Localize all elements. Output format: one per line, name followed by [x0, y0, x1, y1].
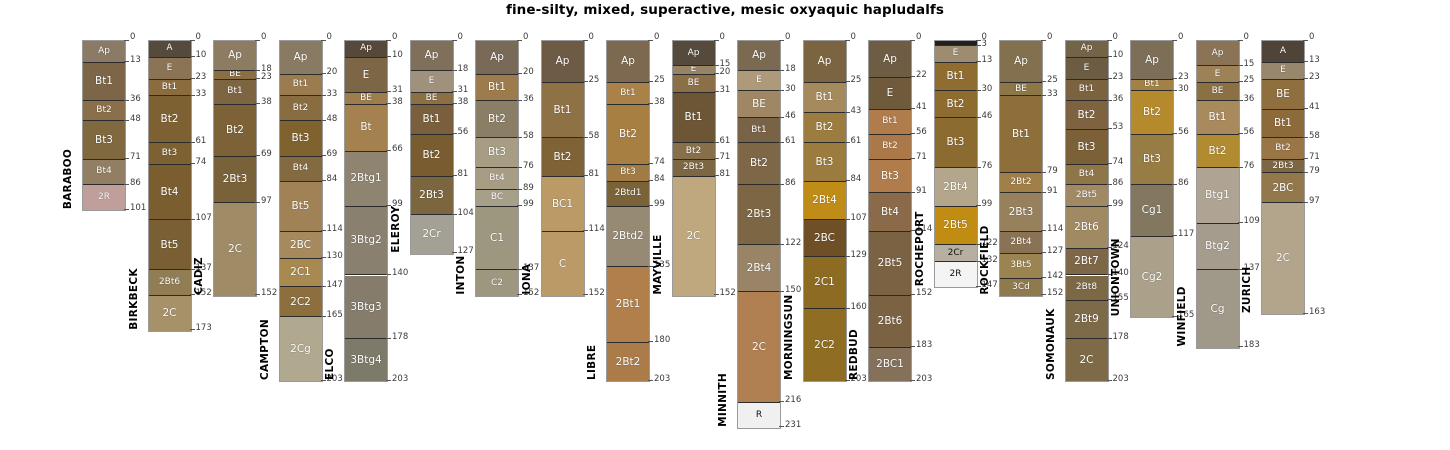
soil-horizon: Bt2 — [280, 96, 322, 121]
tick-mark — [1107, 338, 1112, 339]
soil-horizon: 2C — [1262, 203, 1304, 314]
depth-value: 152 — [916, 289, 932, 298]
depth-value: 13 — [1309, 56, 1320, 65]
soil-horizon: Bt3 — [1066, 130, 1108, 165]
soil-horizon: 2BC — [804, 220, 846, 257]
horizon-label: 2Bt4 — [747, 263, 772, 274]
horizon-label: 2BC1 — [876, 359, 904, 370]
soil-horizon: Bt2 — [804, 113, 846, 143]
soil-horizon: Bt3 — [83, 121, 125, 160]
horizon-label: Bt2 — [619, 129, 637, 140]
depth-value: 203 — [916, 375, 932, 384]
pedon-name-label: BIRKBECK — [128, 40, 140, 330]
pedon-name-label: ELCO — [324, 40, 336, 380]
tick-mark — [1303, 78, 1308, 79]
soil-horizon: Bt3 — [1131, 135, 1173, 185]
soil-horizon: Bt5 — [149, 220, 191, 270]
soil-horizon: Cg — [1197, 270, 1239, 347]
soil-horizon: Bt1 — [1066, 80, 1108, 102]
soil-horizon: 2Bt3 — [1262, 160, 1304, 173]
profile-column: ApEBt1Bt2Bt3Bt42Bt52Bt62BC1 — [868, 40, 912, 382]
tick-mark — [1303, 202, 1308, 203]
soil-horizon: Bt5 — [280, 182, 322, 232]
soil-horizon: E — [1197, 66, 1239, 83]
horizon-label: Bt1 — [1144, 80, 1159, 89]
soil-horizon: BE — [214, 71, 256, 79]
pedon-name-label: INTON — [455, 40, 467, 295]
soil-horizon: C1 — [476, 207, 518, 271]
tick-mark — [1238, 346, 1243, 347]
tick-mark — [779, 426, 784, 427]
soil-horizon: A — [1262, 41, 1304, 63]
horizon-label: Bt1 — [227, 87, 242, 96]
horizon-label: 2C — [1276, 253, 1290, 264]
soil-horizon: 3Bt5 — [1000, 254, 1042, 279]
horizon-label: 2Bt3 — [223, 174, 248, 185]
soil-horizon: 2C — [673, 177, 715, 296]
soil-horizon: Bt1 — [738, 118, 780, 143]
soil-horizon: Ap — [1131, 41, 1173, 80]
pedon-name-label: ROCKFIELD — [979, 40, 991, 295]
soil-horizon: 2R — [83, 185, 125, 210]
horizon-label: 2Bt5 — [878, 258, 903, 269]
horizon-label: E — [887, 88, 894, 99]
horizon-label: Bt2 — [553, 152, 571, 163]
horizon-label: Bt1 — [162, 83, 177, 92]
profile-column: EBt1Bt2Bt32Bt42Bt52Cr2R — [934, 40, 978, 288]
depth-value: 41 — [1309, 103, 1320, 112]
soil-horizon: Ap — [214, 41, 256, 71]
horizon-label: 2Cr — [948, 249, 964, 258]
page-title: fine-silty, mixed, superactive, mesic ox… — [0, 2, 1450, 18]
horizon-label: 2C2 — [290, 297, 311, 308]
pedon-name-label: WINFIELD — [1176, 40, 1188, 347]
soil-profile-plot: BARABOOApBt1Bt2Bt3Bt42R01336487186101BIR… — [0, 28, 1450, 448]
horizon-label: Bt2 — [96, 106, 111, 115]
pedon-name-label: IONA — [521, 40, 533, 295]
profile-column: ApBt1Bt2Bt3Bt4BCC1C2 — [475, 40, 519, 297]
pedon-name-label: MAYVILLE — [652, 40, 664, 295]
soil-horizon: Bt1 — [1131, 80, 1173, 92]
horizon-label: 2Bt9 — [1074, 314, 1099, 325]
horizon-label: E — [167, 64, 173, 73]
soil-horizon: Bt2 — [607, 105, 649, 165]
horizon-label: 3Btg2 — [350, 235, 381, 246]
tick-mark — [910, 380, 915, 381]
soil-horizon: 3Btg4 — [345, 339, 387, 381]
soil-horizon: 2Bt5 — [935, 207, 977, 246]
soil-horizon: E — [1066, 58, 1108, 80]
horizon-label: Ap — [294, 52, 308, 63]
horizon-label: 2C1 — [290, 267, 311, 278]
horizon-label: BC1 — [552, 199, 573, 210]
depth-value: 0 — [1309, 33, 1314, 42]
horizon-label: Ap — [818, 56, 832, 67]
tick-mark — [1303, 108, 1308, 109]
horizon-label: E — [1084, 64, 1090, 73]
horizon-label: Bt3 — [620, 168, 635, 177]
soil-horizon: Bt3 — [476, 138, 518, 168]
tick-mark — [386, 380, 391, 381]
horizon-label: Bt1 — [422, 114, 440, 125]
pedon-name-label: MORNINGSUN — [783, 40, 795, 380]
depth-value: 79 — [1309, 167, 1320, 176]
horizon-label: Bt3 — [815, 157, 833, 168]
horizon-label: C — [559, 259, 566, 270]
soil-horizon: BE — [1197, 83, 1239, 101]
profile-column: ApBt1Bt2Bt32Btd12Btd22Bt12Bt2 — [606, 40, 650, 382]
tick-mark — [1303, 313, 1308, 314]
soil-horizon: 3Cd — [1000, 279, 1042, 296]
soil-horizon: Bt2 — [1066, 101, 1108, 129]
horizon-label: Bt1 — [1079, 85, 1094, 94]
horizon-label: 2BC — [814, 233, 835, 244]
depth-value: 231 — [785, 421, 801, 430]
soil-horizon: 2Bt7 — [1066, 249, 1108, 276]
soil-horizon: 2Bt6 — [869, 296, 911, 348]
profile-column: ApEBEBt1Bt22Bt32C — [672, 40, 716, 297]
soil-horizon: 2Cg — [280, 317, 322, 381]
soil-horizon: Bt3 — [607, 165, 649, 182]
horizon-label: BC — [491, 193, 503, 202]
horizon-label: 2Bt3 — [1272, 162, 1293, 171]
horizon-label: Bt3 — [488, 147, 506, 158]
soil-horizon: Ap — [476, 41, 518, 75]
horizon-label: 2Btg1 — [350, 173, 381, 184]
horizon-label: Bt1 — [684, 112, 702, 123]
soil-horizon: Bt2 — [1262, 138, 1304, 160]
horizon-label: Ap — [228, 50, 242, 61]
depth-value: 203 — [654, 375, 670, 384]
horizon-label: 2C — [1079, 355, 1093, 366]
soil-horizon: 2Cr — [411, 215, 453, 254]
depth-value: 140 — [392, 269, 408, 278]
soil-horizon: Bt2 — [214, 105, 256, 157]
profile-column: ApBt1Bt2Bt32Bt42BC2C12C2 — [803, 40, 847, 382]
horizon-label: 2R — [950, 270, 962, 279]
profile-column: AEBt1Bt2Bt3Bt4Bt52Bt62C — [148, 40, 192, 332]
horizon-label: 2C — [752, 342, 766, 353]
horizon-label: Bt2 — [1275, 144, 1290, 153]
horizon-label: R — [756, 411, 762, 420]
soil-horizon: Bt2 — [83, 101, 125, 121]
soil-horizon: Bt4 — [149, 165, 191, 220]
depth-value: 71 — [1309, 153, 1320, 162]
horizon-label: Bt1 — [751, 126, 766, 135]
soil-horizon: BC — [476, 190, 518, 207]
horizon-label: 2Cr — [422, 229, 440, 240]
soil-horizon: 2Bt3 — [411, 177, 453, 216]
soil-horizon: 2Btd2 — [607, 207, 649, 267]
soil-horizon: 2C — [738, 292, 780, 403]
horizon-label: Bt1 — [95, 76, 113, 87]
pedon-name-label: CADIZ — [193, 40, 205, 295]
horizon-label: Bt5 — [160, 240, 178, 251]
profile-column: ApEBEBt1Bt2Btg1Btg2Cg — [1196, 40, 1240, 349]
soil-horizon: 2C — [1066, 339, 1108, 381]
horizon-label: Bt4 — [96, 167, 111, 176]
soil-horizon: E — [935, 46, 977, 63]
soil-horizon: Bt3 — [804, 143, 846, 182]
soil-horizon: 2Bt3 — [738, 185, 780, 245]
profile-column: ApBt1Bt2Bt3Bt42R — [82, 40, 126, 211]
soil-horizon: Bt4 — [1066, 165, 1108, 185]
horizon-label: Bt2 — [1143, 107, 1161, 118]
horizon-label: E — [691, 66, 697, 74]
soil-horizon: Ap — [738, 41, 780, 71]
soil-horizon: E — [869, 78, 911, 110]
horizon-label: Bt1 — [1274, 118, 1292, 129]
soil-horizon: 2Bt5 — [869, 232, 911, 296]
soil-horizon: Bt1 — [804, 83, 846, 113]
horizon-label: Bt2 — [160, 114, 178, 125]
soil-horizon: Bt4 — [280, 157, 322, 182]
horizon-label: Ap — [688, 49, 700, 58]
horizon-label: Bt2 — [488, 114, 506, 125]
horizon-label: Ap — [490, 52, 504, 63]
depth-value: 178 — [1113, 333, 1129, 342]
pedon-name-label: MINNITH — [717, 40, 729, 427]
horizon-label: A — [1280, 47, 1286, 56]
profile-column: ApEBt1Bt2Bt3Bt42Bt52Bt62Bt72Bt82Bt92C — [1065, 40, 1109, 382]
horizon-label: Bt3 — [1077, 142, 1095, 153]
pedon-name-label: SOMONAUK — [1045, 40, 1057, 380]
soil-horizon: E — [738, 71, 780, 91]
horizon-label: 2Bt3 — [747, 209, 772, 220]
soil-horizon: Bt2 — [149, 96, 191, 143]
horizon-label: Ap — [883, 54, 897, 65]
horizon-label: Btg1 — [1205, 190, 1230, 201]
soil-horizon: R — [738, 403, 780, 428]
tick-mark — [386, 338, 391, 339]
horizon-label: Bt1 — [620, 89, 635, 98]
horizon-label: Ap — [752, 50, 766, 61]
soil-horizon: 2Bt5 — [1066, 185, 1108, 207]
depth-axis: 013234158717997163 — [1303, 28, 1343, 313]
soil-horizon: 2BC — [280, 232, 322, 259]
soil-horizon: 2Bt4 — [935, 168, 977, 207]
horizon-label: E — [363, 70, 370, 81]
tick-mark — [910, 346, 915, 347]
horizon-label: BE — [688, 79, 700, 88]
soil-horizon: Bt2 — [1197, 135, 1239, 169]
depth-value: 183 — [916, 341, 932, 350]
soil-horizon: 2Bt9 — [1066, 301, 1108, 340]
horizon-label: Cg2 — [1142, 272, 1163, 283]
horizon-label: 2Bt4 — [1010, 238, 1031, 247]
horizon-label: Bt4 — [489, 174, 504, 183]
horizon-label: 2C — [162, 308, 176, 319]
soil-horizon: Bt2 — [411, 135, 453, 177]
horizon-label: 2Cg — [290, 344, 311, 355]
soil-horizon: 2Bt3 — [1000, 193, 1042, 232]
horizon-label: Bt1 — [1012, 129, 1030, 140]
pedon-name-label: ZURICH — [1241, 40, 1253, 313]
profile-column: ApBEBt1Bt22Bt32C — [213, 40, 257, 297]
soil-horizon: BE — [345, 93, 387, 105]
profile-column: ApBt1Bt2Bt3Cg1Cg2 — [1130, 40, 1174, 318]
soil-horizon: 2C1 — [280, 259, 322, 287]
soil-horizon: Bt1 — [280, 75, 322, 97]
soil-horizon: 2Bt6 — [1066, 207, 1108, 249]
soil-horizon: E — [411, 71, 453, 93]
tick-mark — [1303, 40, 1308, 41]
horizon-label: BE — [229, 71, 241, 79]
soil-horizon: Bt2 — [673, 143, 715, 160]
soil-horizon: Bt1 — [149, 80, 191, 97]
horizon-label: BE — [1276, 89, 1290, 100]
depth-value: 180 — [654, 336, 670, 345]
horizon-label: Ap — [621, 56, 635, 67]
soil-horizon: 2C2 — [804, 309, 846, 381]
horizon-label: 2Bt4 — [943, 182, 968, 193]
soil-horizon: Bt1 — [935, 63, 977, 91]
horizon-label: Bt3 — [1143, 154, 1161, 165]
horizon-label: 2Bt6 — [159, 278, 180, 287]
soil-horizon: Ap — [1066, 41, 1108, 58]
profile-column: ApBt1Bt2BC1C — [541, 40, 585, 297]
soil-horizon: 2C — [149, 296, 191, 331]
tick-mark — [1107, 380, 1112, 381]
soil-horizon: Ap — [1000, 41, 1042, 83]
soil-horizon: 2C2 — [280, 287, 322, 317]
horizon-label: E — [429, 77, 435, 86]
horizon-label: 2Bt7 — [1074, 256, 1099, 267]
soil-horizon: Ap — [607, 41, 649, 83]
profile-column: ApEBEBt1Bt22Bt32Bt42CR — [737, 40, 781, 429]
horizon-label: Ap — [556, 56, 570, 67]
horizon-label: BE — [752, 99, 766, 110]
soil-horizon: 2Cr — [935, 245, 977, 262]
horizon-label: 2Bt2 — [1010, 178, 1031, 187]
profile-column: ApBt1Bt2Bt3Bt4Bt52BC2C12C22Cg — [279, 40, 323, 382]
horizon-label: BE — [1015, 85, 1027, 94]
horizon-label: 2Bt3 — [1009, 207, 1034, 218]
soil-horizon: Ap — [345, 41, 387, 58]
horizon-label: 2C — [228, 244, 242, 255]
soil-horizon: 2Bt6 — [149, 270, 191, 295]
horizon-label: BE — [360, 94, 372, 103]
horizon-label: Bt2 — [946, 99, 964, 110]
horizon-label: 3Bt5 — [1010, 261, 1031, 270]
soil-horizon: E — [345, 58, 387, 93]
soil-horizon: Btg1 — [1197, 168, 1239, 223]
horizon-label: Bt2 — [1077, 110, 1095, 121]
soil-horizon: Cg1 — [1131, 185, 1173, 237]
horizon-label: Ap — [360, 44, 372, 53]
soil-horizon: Ap — [411, 41, 453, 71]
horizon-label: Bt1 — [946, 71, 964, 82]
soil-horizon: Bt2 — [542, 138, 584, 177]
profile-column: AEBEBt1Bt22Bt32BC2C — [1261, 40, 1305, 315]
soil-horizon: Bt1 — [869, 110, 911, 135]
horizon-label: Ap — [98, 47, 110, 56]
pedon-name-label: CAMPTON — [259, 40, 271, 380]
horizon-label: Bt2 — [815, 122, 833, 133]
soil-horizon: 2Bt2 — [607, 343, 649, 382]
horizon-label: Bt2 — [422, 150, 440, 161]
soil-horizon: Bt4 — [83, 160, 125, 185]
depth-value: 173 — [196, 324, 212, 333]
horizon-label: 2Bt3 — [683, 163, 704, 172]
tick-mark — [1303, 172, 1308, 173]
horizon-label: E — [756, 76, 762, 85]
profile-column: ApEBEBt1Bt22Bt32Cr — [410, 40, 454, 255]
pedon-name-label: LIBRE — [586, 40, 598, 380]
horizon-label: 2Bt6 — [1074, 222, 1099, 233]
horizon-label: E — [953, 49, 959, 58]
horizon-label: Bt1 — [815, 92, 833, 103]
soil-horizon: Ap — [83, 41, 125, 63]
depth-value: 178 — [392, 333, 408, 342]
horizon-label: Bt3 — [95, 135, 113, 146]
soil-horizon: Bt2 — [738, 143, 780, 185]
tick-mark — [779, 401, 784, 402]
soil-horizon: Ap — [1197, 41, 1239, 66]
depth-value: 97 — [1309, 197, 1320, 206]
horizon-label: Bt4 — [293, 164, 308, 173]
soil-horizon: Cg2 — [1131, 237, 1173, 317]
tick-mark — [1303, 61, 1308, 62]
soil-horizon: Bt1 — [214, 80, 256, 105]
horizon-label: 2BC — [290, 240, 311, 251]
horizon-label: Btg2 — [1205, 241, 1230, 252]
soil-horizon: 2Bt3 — [673, 160, 715, 177]
pedon-name-label: ROCHEPORT — [914, 40, 926, 286]
tick-mark — [910, 294, 915, 295]
soil-horizon: Bt3 — [149, 143, 191, 165]
soil-horizon: Bt1 — [673, 93, 715, 143]
soil-horizon: 2Bt4 — [738, 245, 780, 292]
soil-horizon: BE — [1000, 83, 1042, 96]
soil-horizon: Ap — [280, 41, 322, 75]
horizon-label: Cg1 — [1142, 205, 1163, 216]
soil-horizon: Bt1 — [411, 105, 453, 135]
soil-horizon: 2BC — [1262, 173, 1304, 203]
soil-horizon: 2C — [214, 203, 256, 295]
soil-horizon: Ap — [542, 41, 584, 83]
depth-value: 163 — [1309, 308, 1325, 317]
horizon-label: Ap — [1014, 56, 1028, 67]
pedon-name-label: UNIONTOWN — [1110, 40, 1122, 316]
pedon-name-label: REDBUD — [848, 40, 860, 380]
soil-horizon: BE — [1262, 80, 1304, 110]
horizon-label: Bt1 — [293, 80, 308, 89]
soil-horizon: 2R — [935, 262, 977, 287]
soil-horizon: 2BC1 — [869, 348, 911, 382]
horizon-label: A — [166, 44, 172, 53]
profile-column: ApBEBt12Bt22Bt32Bt43Bt53Cd — [999, 40, 1043, 297]
soil-horizon: Bt — [345, 105, 387, 152]
horizon-label: BE — [426, 94, 438, 103]
soil-horizon: Bt1 — [1197, 101, 1239, 135]
horizon-label: BE — [1212, 87, 1224, 96]
soil-horizon: E — [1262, 63, 1304, 80]
tick-mark — [648, 341, 653, 342]
horizon-label: Bt1 — [1208, 112, 1226, 123]
profile-column: ApEBEBt2Btg13Btg23Btg33Btg4 — [344, 40, 388, 382]
soil-horizon: 2Bt3 — [214, 157, 256, 204]
soil-horizon: Bt1 — [607, 83, 649, 105]
horizon-label: 2Bt5 — [943, 220, 968, 231]
horizon-label: 2Bt1 — [616, 299, 641, 310]
tick-mark — [1303, 158, 1308, 159]
soil-horizon: Bt3 — [869, 160, 911, 194]
horizon-label: C2 — [491, 279, 503, 288]
horizon-label: Ap — [1212, 49, 1224, 58]
horizon-label: 2BC — [1272, 183, 1293, 194]
tick-mark — [386, 274, 391, 275]
